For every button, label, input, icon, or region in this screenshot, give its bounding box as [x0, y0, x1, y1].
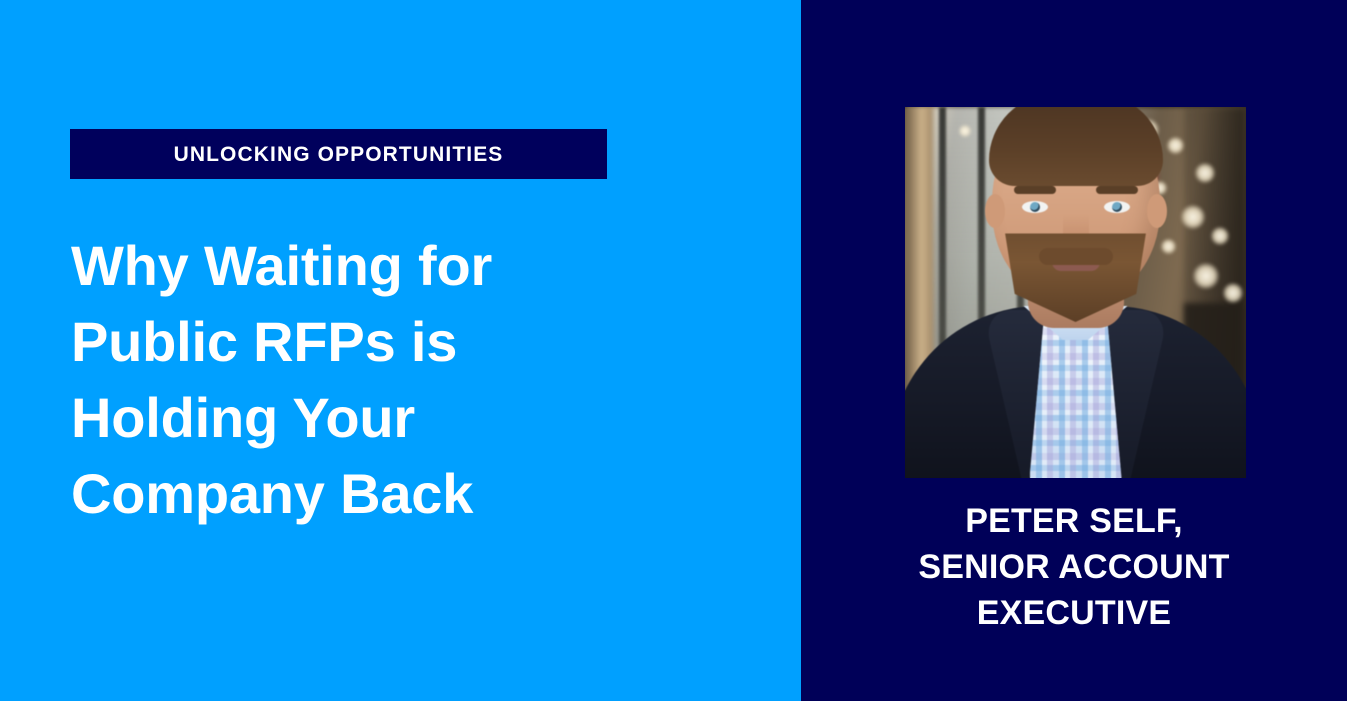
headline-line-4: Company Back	[71, 456, 731, 532]
speaker-title-line-2: EXECUTIVE	[819, 590, 1329, 636]
promo-card: UNLOCKING OPPORTUNITIES Why Waiting for …	[0, 0, 1347, 701]
subject-hair	[989, 107, 1163, 186]
subject-head	[992, 107, 1160, 302]
eyebrow-badge: UNLOCKING OPPORTUNITIES	[70, 129, 607, 179]
headline-line-2: Public RFPs is	[71, 304, 731, 380]
portrait-image	[905, 107, 1246, 478]
right-panel: PETER SELF, SENIOR ACCOUNT EXECUTIVE	[801, 0, 1347, 701]
headline: Why Waiting for Public RFPs is Holding Y…	[71, 228, 731, 532]
left-panel: UNLOCKING OPPORTUNITIES Why Waiting for …	[0, 0, 801, 701]
portrait-photo	[905, 107, 1246, 478]
portrait-subject	[905, 148, 1246, 478]
speaker-caption: PETER SELF, SENIOR ACCOUNT EXECUTIVE	[801, 498, 1347, 636]
headline-line-3: Holding Your	[71, 380, 731, 456]
subject-eye-right	[1104, 201, 1130, 213]
speaker-title-line-1: SENIOR ACCOUNT	[819, 544, 1329, 590]
bokeh-light	[959, 125, 971, 137]
headline-line-1: Why Waiting for	[71, 228, 731, 304]
eyebrow-badge-label: UNLOCKING OPPORTUNITIES	[174, 144, 504, 165]
subject-eyebrow-right	[1096, 186, 1138, 194]
subject-eyebrow-left	[1014, 186, 1056, 194]
subject-ear-left	[985, 194, 1005, 228]
speaker-name: PETER SELF,	[819, 498, 1329, 544]
subject-ear-right	[1147, 194, 1167, 228]
subject-eye-left	[1022, 201, 1048, 213]
subject-moustache	[1039, 248, 1113, 265]
